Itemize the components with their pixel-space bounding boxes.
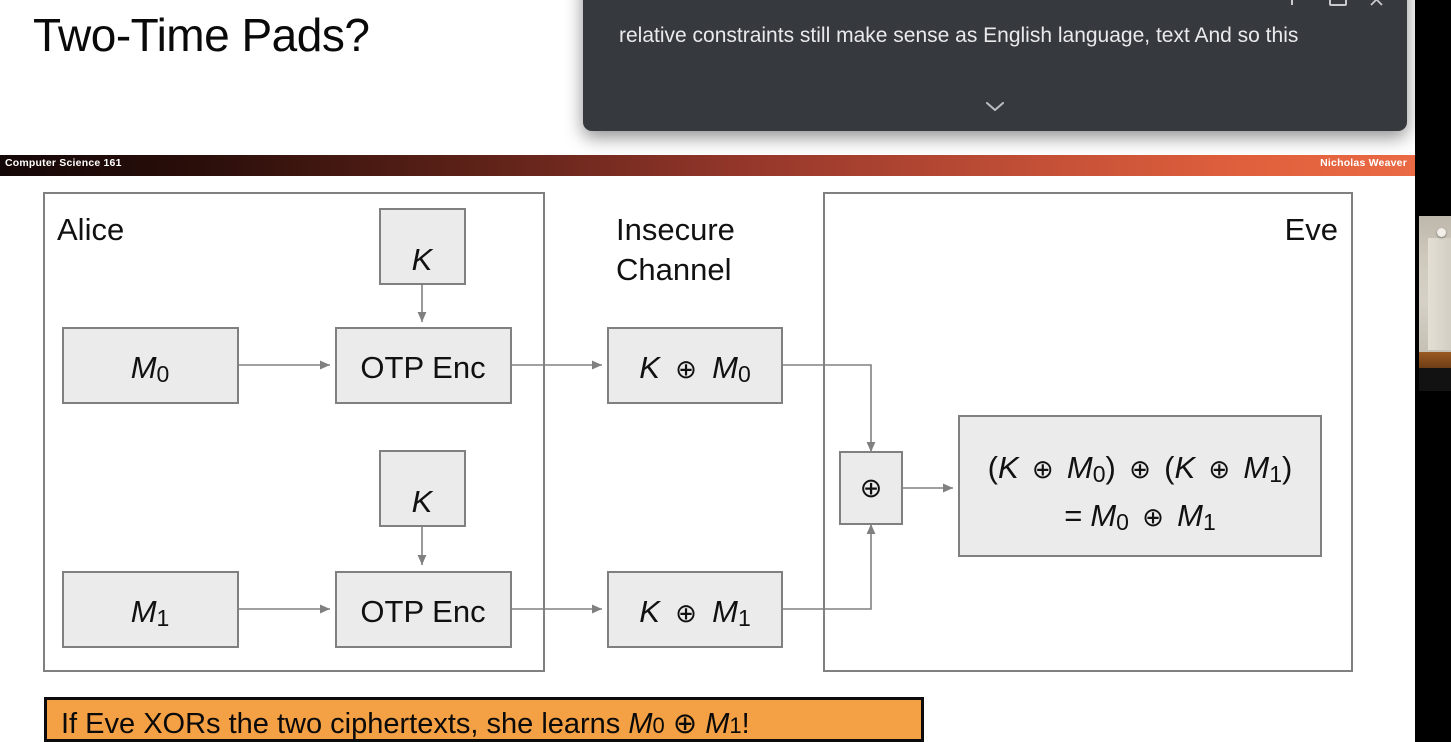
banner-presenter-label: Nicholas Weaver bbox=[1320, 157, 1407, 169]
callout-m0-sub: 0 bbox=[653, 713, 665, 738]
presenter-webcam-thumbnail[interactable] bbox=[1419, 216, 1451, 391]
node-ciphertext-0-label: K ⊕ M0 bbox=[639, 350, 751, 387]
group-label-channel-line1: Insecure bbox=[616, 212, 735, 247]
page-title: Two-Time Pads? bbox=[33, 8, 369, 62]
key-takeaway-text: If Eve XORs the two ciphertexts, she lea… bbox=[61, 706, 750, 741]
meeting-screen-share-stage: Two-Time Pads? Computer Science 161 Nich… bbox=[0, 0, 1451, 742]
live-caption-panel[interactable]: relative constraints still make sense as… bbox=[583, 0, 1407, 131]
group-label-eve: Eve bbox=[1285, 212, 1338, 247]
node-key-top-label: K bbox=[412, 242, 434, 277]
key-takeaway-callout: If Eve XORs the two ciphertexts, she lea… bbox=[44, 697, 924, 742]
callout-m1-sub: 1 bbox=[729, 713, 741, 738]
callout-prefix: If Eve XORs the two ciphertexts, she lea… bbox=[61, 708, 628, 740]
webcam-highlight bbox=[1437, 228, 1446, 237]
webcam-shadow bbox=[1419, 368, 1451, 391]
callout-m1-letter: M bbox=[705, 708, 729, 740]
chevron-down-icon[interactable] bbox=[583, 94, 1407, 118]
node-ciphertext-1-label: K ⊕ M1 bbox=[639, 594, 751, 631]
close-icon[interactable] bbox=[1367, 0, 1385, 6]
caption-transcript-text: relative constraints still make sense as… bbox=[619, 18, 1379, 53]
group-label-alice: Alice bbox=[57, 212, 124, 247]
webcam-desk bbox=[1419, 352, 1451, 368]
node-otp-enc-bottom-label: OTP Enc bbox=[360, 594, 485, 629]
two-time-pad-diagram: Alice Insecure Channel Eve K M0 OTP Enc bbox=[0, 176, 1415, 742]
callout-m0-letter: M bbox=[628, 708, 652, 740]
node-otp-enc-top-label: OTP Enc bbox=[360, 350, 485, 385]
minimize-icon[interactable] bbox=[1329, 0, 1347, 6]
webcam-door bbox=[1428, 238, 1451, 350]
callout-xor-symbol: ⊕ bbox=[665, 708, 705, 740]
node-key-bottom-label: K bbox=[412, 484, 434, 519]
node-result bbox=[959, 416, 1321, 556]
callout-suffix: ! bbox=[742, 708, 750, 740]
node-xor-operator-label: ⊕ bbox=[860, 473, 883, 503]
banner-course-label: Computer Science 161 bbox=[5, 157, 122, 169]
course-banner: Computer Science 161 Nicholas Weaver bbox=[0, 155, 1415, 176]
node-result-line1: (K ⊕ M0) ⊕ (K ⊕ M1) bbox=[988, 450, 1293, 487]
drag-handle-icon[interactable] bbox=[1283, 0, 1301, 6]
group-label-channel-line2: Channel bbox=[616, 252, 731, 287]
